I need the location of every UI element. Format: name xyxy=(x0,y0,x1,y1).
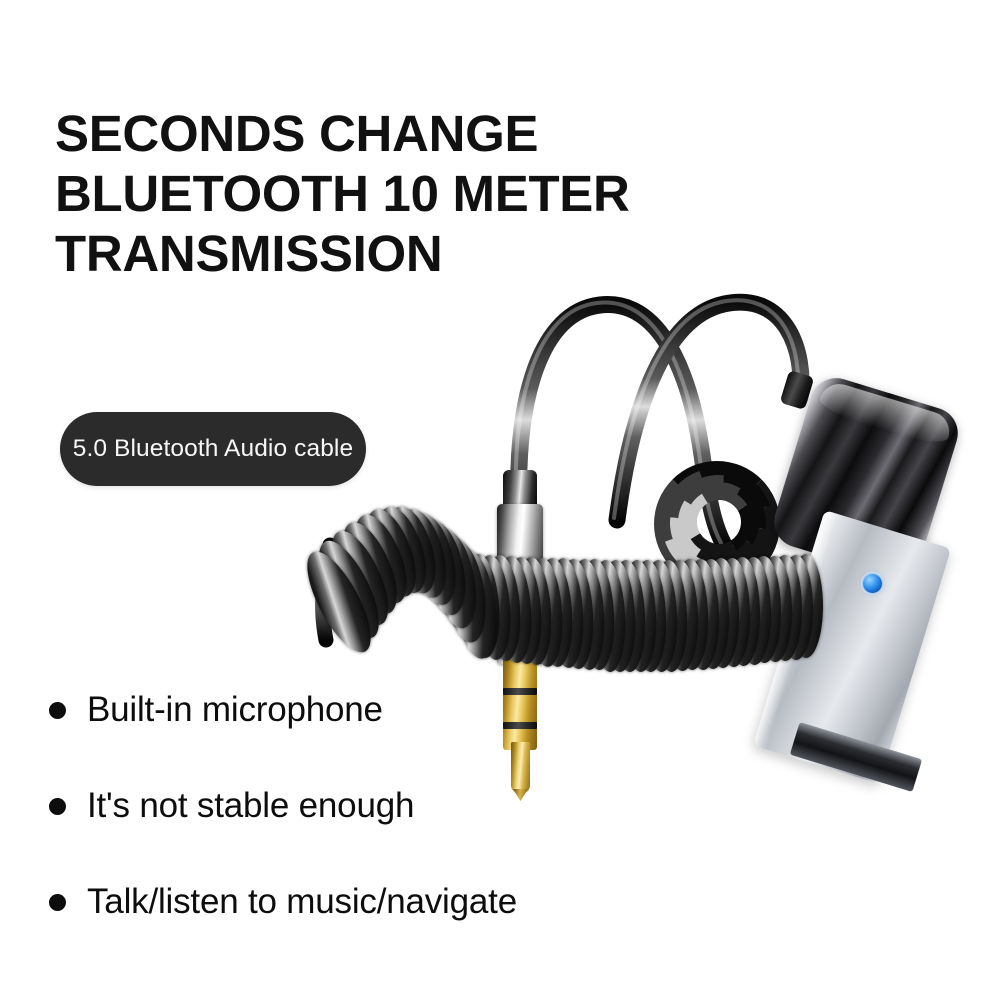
feature-list: Built-in microphone It's not stable enou… xyxy=(49,662,669,950)
feature-label: Built-in microphone xyxy=(87,690,383,730)
headline-line-3: TRANSMISSION xyxy=(55,224,675,284)
bullet-dot-icon xyxy=(49,798,66,815)
feature-label: Talk/listen to music/navigate xyxy=(87,882,517,922)
list-item: Built-in microphone xyxy=(49,662,669,758)
headline-line-1: SECONDS CHANGE xyxy=(55,104,675,164)
product-promo-image: SECONDS CHANGE BLUETOOTH 10 METER TRANSM… xyxy=(0,0,1000,1000)
product-name-badge: 5.0 Bluetooth Audio cable xyxy=(60,412,366,486)
list-item: It's not stable enough xyxy=(49,758,669,854)
bullet-dot-icon xyxy=(49,702,66,719)
page-title: SECONDS CHANGE BLUETOOTH 10 METER TRANSM… xyxy=(55,104,675,284)
product-name-badge-label: 5.0 Bluetooth Audio cable xyxy=(73,435,353,463)
feature-label: It's not stable enough xyxy=(87,786,414,826)
status-led-icon xyxy=(863,574,882,593)
headline-line-2: BLUETOOTH 10 METER xyxy=(55,164,675,224)
bullet-dot-icon xyxy=(49,894,66,911)
list-item: Talk/listen to music/navigate xyxy=(49,854,669,950)
